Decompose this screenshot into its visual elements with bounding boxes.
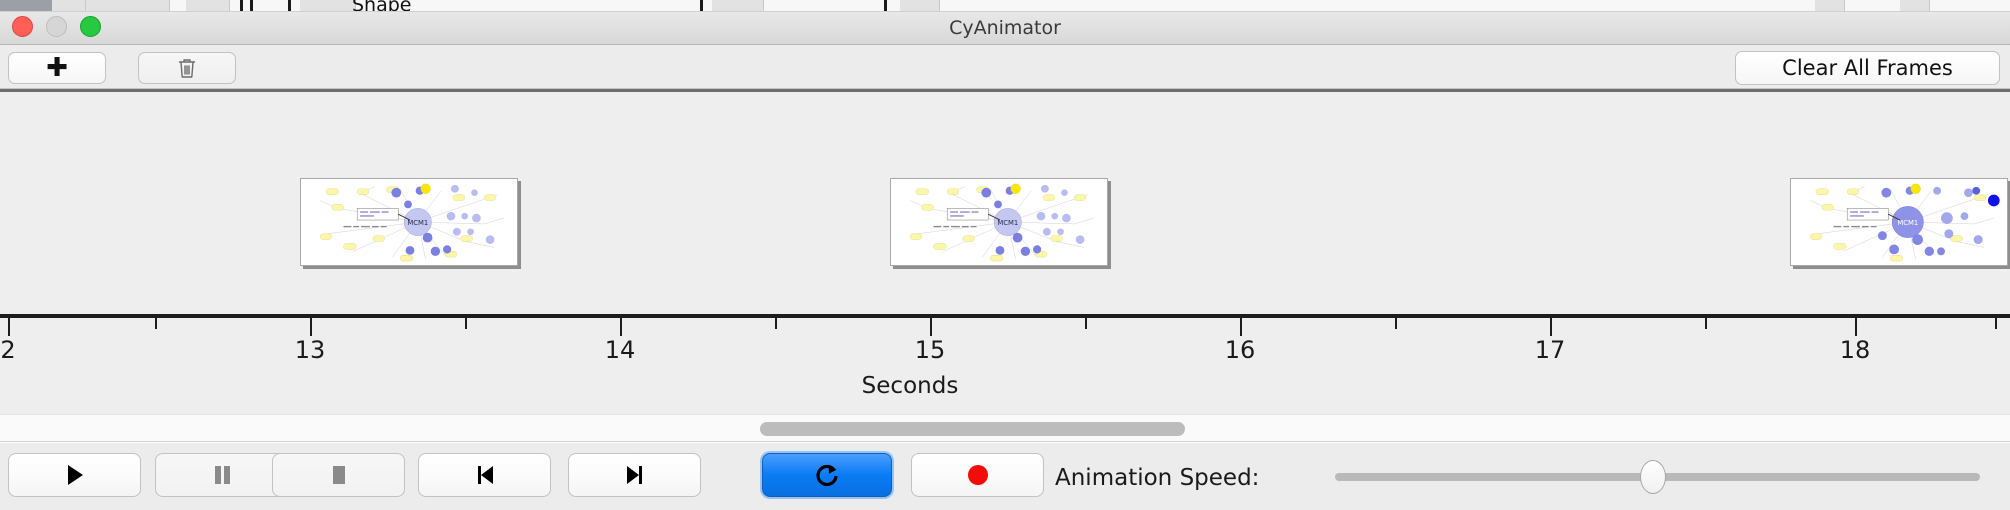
axis-tick <box>1855 318 1857 336</box>
bg-segment <box>86 0 170 12</box>
svg-text:MCM1: MCM1 <box>407 219 428 227</box>
record-icon <box>965 462 991 488</box>
pause-icon <box>209 462 235 488</box>
background-window-label: Shape <box>352 0 412 12</box>
loop-icon <box>812 460 842 490</box>
bg-segment <box>52 0 86 12</box>
bg-segment <box>0 0 52 12</box>
slider-thumb[interactable] <box>1640 460 1666 494</box>
window-title: CyAnimator <box>0 12 2010 45</box>
axis-tick-label: 13 <box>295 336 326 364</box>
scrollbar-thumb[interactable] <box>760 422 1185 436</box>
frame-thumbnail[interactable]: MCM1 <box>300 178 518 266</box>
bg-tick <box>240 0 243 12</box>
axis-tick-minor <box>1085 318 1087 329</box>
axis-tick-minor <box>1995 318 1997 329</box>
skip-previous-icon <box>472 462 498 488</box>
axis-tick <box>310 318 312 336</box>
trash-icon <box>177 57 197 79</box>
frame-thumbnail[interactable]: MCM1 <box>1790 178 2008 266</box>
bg-tick <box>700 0 703 12</box>
timeline-ticks <box>0 318 2010 336</box>
axis-tick-label: 2 <box>0 336 15 364</box>
axis-tick-minor <box>465 318 467 329</box>
axis-tick-minor <box>1705 318 1707 329</box>
axis-tick-minor <box>155 318 157 329</box>
frame-thumbnail[interactable]: MCM1 <box>890 178 1108 266</box>
clear-all-frames-button[interactable]: Clear All Frames <box>1735 51 2000 85</box>
stop-icon <box>326 462 352 488</box>
clear-all-frames-label: Clear All Frames <box>1782 56 1953 80</box>
skip-next-icon <box>622 462 648 488</box>
skip-previous-button[interactable] <box>418 453 551 497</box>
timeline-tick-labels: 2 13 14 15 16 17 18 <box>0 336 2010 366</box>
bg-segment <box>300 0 356 12</box>
skip-next-button[interactable] <box>568 453 701 497</box>
network-thumbnail-graphic: MCM1 <box>301 179 517 265</box>
record-button[interactable] <box>911 453 1044 497</box>
pause-button[interactable] <box>155 453 288 497</box>
svg-text:MCM1: MCM1 <box>1897 219 1918 227</box>
play-button[interactable] <box>8 453 141 497</box>
bg-segment <box>186 0 230 12</box>
bg-segment <box>1900 0 1930 12</box>
animation-speed-slider[interactable] <box>1335 473 1980 481</box>
axis-tick-label: 17 <box>1535 336 1566 364</box>
loop-button[interactable] <box>762 453 892 497</box>
axis-tick <box>1240 318 1242 336</box>
axis-tick-minor <box>775 318 777 329</box>
axis-tick-label: 16 <box>1225 336 1256 364</box>
background-window-strip: Shape <box>0 0 2010 12</box>
delete-frame-button[interactable] <box>138 52 236 84</box>
axis-tick-label: 14 <box>605 336 636 364</box>
axis-title: Seconds <box>0 373 2010 399</box>
axis-tick <box>1550 318 1552 336</box>
bg-segment <box>900 0 940 12</box>
axis-tick-minor <box>1395 318 1397 329</box>
title-bar[interactable]: CyAnimator <box>0 12 2010 45</box>
network-thumbnail-graphic: MCM1 <box>891 179 1107 265</box>
axis-tick <box>8 318 10 336</box>
play-icon <box>62 462 88 488</box>
stop-button[interactable] <box>272 453 405 497</box>
axis-tick-label: 18 <box>1840 336 1871 364</box>
svg-text:MCM1: MCM1 <box>997 219 1018 227</box>
plus-icon: ✚ <box>46 55 68 81</box>
toolbar: ✚ Clear All Frames <box>0 45 2010 89</box>
bg-tick <box>288 0 291 12</box>
animation-speed-label: Animation Speed: <box>1055 465 1259 491</box>
network-thumbnail-graphic: MCM1 <box>1791 179 2007 265</box>
timeline-scrollbar[interactable] <box>0 414 2010 442</box>
bg-segment <box>1815 0 1845 12</box>
frame-track[interactable]: MCM1 <box>0 92 2010 314</box>
bg-segment <box>712 0 764 12</box>
add-frame-button[interactable]: ✚ <box>8 52 106 84</box>
transport-bar: Animation Speed: <box>0 443 2010 510</box>
timeline-panel[interactable]: MCM1 <box>0 89 2010 414</box>
bg-tick <box>884 0 887 12</box>
axis-title-text: Seconds <box>862 373 959 399</box>
axis-tick <box>930 318 932 336</box>
axis-tick-label: 15 <box>915 336 946 364</box>
axis-tick <box>620 318 622 336</box>
bg-tick <box>250 0 253 12</box>
